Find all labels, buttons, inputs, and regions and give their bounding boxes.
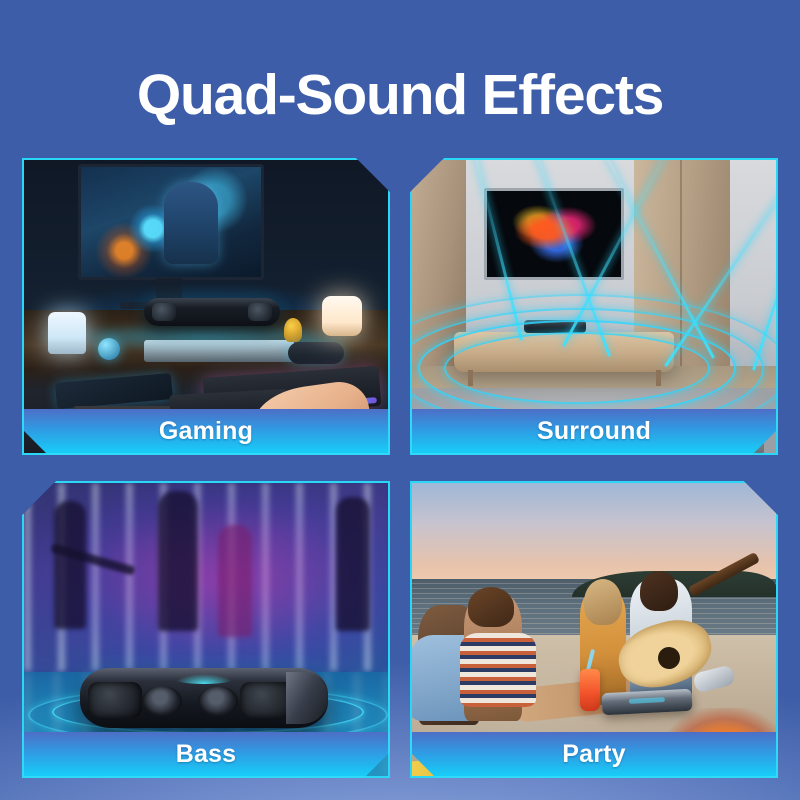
speaker-grill-left [88, 682, 142, 718]
panel-label-text: Party [562, 740, 626, 769]
guitarist-hair [640, 571, 678, 611]
band-member-silhouette [336, 497, 370, 631]
panel-label-bass[interactable]: Bass [22, 732, 390, 778]
speaker-driver-one [142, 686, 182, 716]
friend-two-hair [468, 587, 514, 627]
desk-shelf [144, 340, 294, 362]
desk-figurine [284, 318, 302, 342]
panel-label-party[interactable]: Party [410, 732, 778, 778]
game-character-wizard [164, 182, 218, 263]
product-feature-poster: Quad-Sound Effects [0, 0, 800, 800]
speaker-driver-left [152, 303, 176, 321]
ambient-lamp-left [48, 312, 86, 354]
feature-panel-bass[interactable]: Bass [22, 481, 390, 778]
panel-label-text: Surround [537, 417, 651, 446]
ambient-lamp-right [322, 296, 362, 336]
desk-orb-decoration [98, 338, 120, 360]
panel-label-gaming[interactable]: Gaming [22, 409, 390, 455]
soundwave-ring [444, 332, 710, 404]
speaker-driver-right [248, 303, 272, 321]
feature-panel-surround[interactable]: Surround [410, 158, 778, 455]
soundbar-speaker [144, 298, 280, 326]
panel-label-surround[interactable]: Surround [410, 409, 778, 455]
page-title: Quad-Sound Effects [0, 62, 800, 128]
drink-bottle [580, 669, 600, 711]
band-member-silhouette [158, 491, 198, 631]
panel-label-text: Gaming [159, 417, 253, 446]
friend-two-striped-shirt [460, 633, 536, 707]
panel-label-text: Bass [176, 740, 237, 769]
gaming-monitor [78, 164, 264, 280]
speaker-end-cap [286, 672, 328, 724]
band-member-silhouette [54, 501, 86, 629]
feature-panel-party[interactable]: Party [410, 481, 778, 778]
game-artwork [81, 167, 261, 277]
portable-speaker [80, 668, 328, 728]
band-member-silhouette [218, 525, 252, 637]
speaker-led-indicator [174, 674, 234, 684]
speaker-driver-two [198, 686, 238, 716]
game-controller [288, 342, 344, 364]
feature-panel-gaming[interactable]: Gaming [22, 158, 390, 455]
friend-three-hair [584, 579, 622, 625]
feature-panel-grid: Gaming [22, 158, 778, 778]
